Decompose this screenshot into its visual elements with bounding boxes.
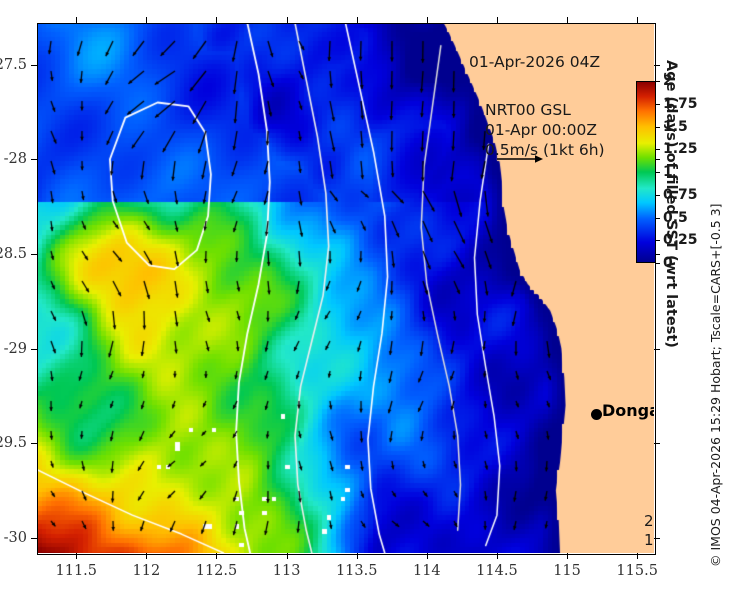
y-axis-tick-label: -28.5 (0, 246, 27, 262)
x-axis-tick-label: 115.5 (616, 563, 658, 579)
y-axis-tick-label: -27.5 (0, 57, 27, 73)
colorbar-tick (656, 127, 660, 128)
y-axis-tick (31, 538, 37, 539)
x-axis-tick-label: 114 (413, 563, 441, 579)
x-axis-tick-top (427, 17, 428, 23)
x-axis-tick (76, 553, 77, 559)
x-axis-tick-top (287, 17, 288, 23)
map-plot-area: 01-Apr-2026 04Z NRT00 GSL 01-Apr 00:00Z … (37, 23, 654, 553)
colorbar-tick (656, 240, 660, 241)
x-axis-tick-top (497, 17, 498, 23)
colorbar-tick (656, 172, 660, 173)
y-axis-tick-label: -30 (4, 530, 27, 546)
y-axis-tick (31, 254, 37, 255)
dongara-place-label: Dongara (602, 401, 654, 420)
depth-label-1000m: 1000m (644, 531, 654, 550)
depth-label-200m: 200m (644, 512, 654, 531)
y-axis-tick (31, 349, 37, 350)
colorbar-tick (656, 104, 660, 105)
colorbar-tick (656, 149, 660, 150)
y-axis-tick-label: -29.5 (0, 435, 27, 451)
y-axis-tick (31, 159, 37, 160)
y-axis-tick-right (654, 538, 660, 539)
model-time-label: 01-Apr 00:00Z (485, 120, 605, 140)
x-axis-tick-label: 112 (133, 563, 161, 579)
x-axis-tick-label: 115 (553, 563, 581, 579)
y-axis-tick-right (654, 349, 660, 350)
x-axis-tick (287, 553, 288, 559)
x-axis-tick-top (216, 17, 217, 23)
x-axis-tick (497, 553, 498, 559)
x-axis-tick-top (76, 17, 77, 23)
x-axis-tick-label: 111.5 (55, 563, 97, 579)
colorbar: 00.250.50.7511.251.51.752 (636, 81, 656, 263)
y-axis-tick (31, 443, 37, 444)
x-axis-tick-label: 112.5 (196, 563, 238, 579)
x-axis-tick (216, 553, 217, 559)
x-axis-tick-top (357, 17, 358, 23)
x-axis-tick (357, 553, 358, 559)
x-axis-tick (427, 553, 428, 559)
model-name-label: NRT00 GSL (485, 100, 605, 120)
x-axis-tick-top (637, 17, 638, 23)
colorbar-tick (656, 218, 660, 219)
dongara-marker-dot (591, 409, 602, 420)
x-axis-tick-label: 114.5 (476, 563, 518, 579)
credit-label: © IMOS 04-Apr-2026 15:29 Hobart; Tscale=… (708, 203, 723, 567)
sst-age-map-figure: 01-Apr-2026 04Z NRT00 GSL 01-Apr 00:00Z … (0, 0, 740, 592)
colorbar-gradient (636, 81, 656, 263)
colorbar-tick (656, 81, 660, 82)
x-axis-tick-label: 113.5 (336, 563, 378, 579)
y-axis-tick-right (654, 443, 660, 444)
colorbar-tick (656, 263, 660, 264)
y-axis-tick (31, 65, 37, 66)
x-axis-tick-top (146, 17, 147, 23)
y-axis-tick-right (654, 65, 660, 66)
x-axis-tick (146, 553, 147, 559)
reference-arrow-icon (495, 151, 545, 167)
depth-contour-labels: 200m 1000m (644, 512, 654, 550)
x-axis-tick-top (567, 17, 568, 23)
x-axis-tick (637, 553, 638, 559)
timestamp-label: 01-Apr-2026 04Z (469, 53, 600, 71)
colorbar-tick (656, 195, 660, 196)
colorbar-title: Age (days) of filled SST (wrt latest) (663, 60, 679, 300)
x-axis-tick-label: 113 (273, 563, 301, 579)
y-axis-tick-label: -28 (4, 151, 27, 167)
y-axis-tick-label: -29 (4, 341, 27, 357)
x-axis-tick (567, 553, 568, 559)
